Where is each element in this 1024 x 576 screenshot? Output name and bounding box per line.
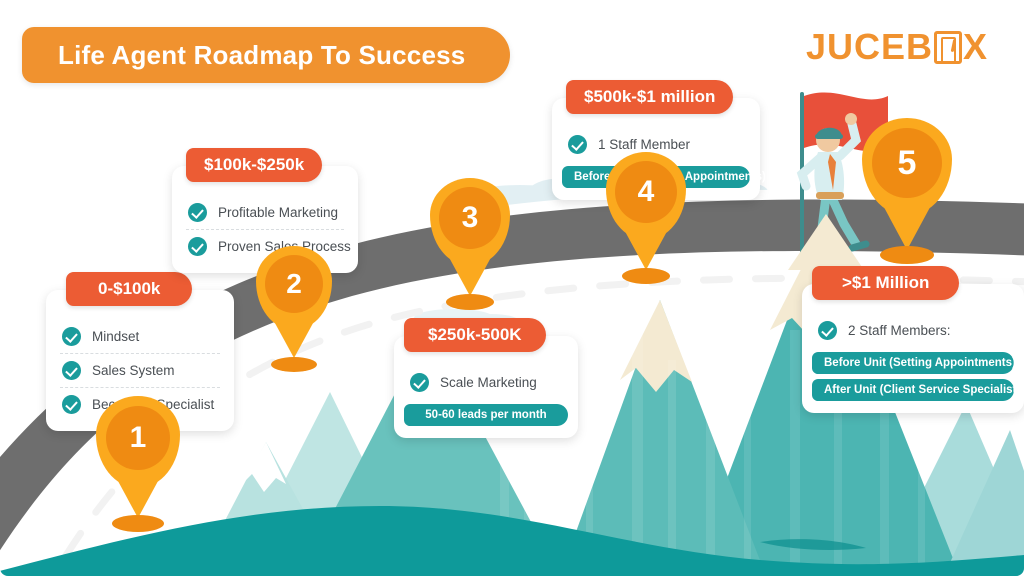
list-item: Mindset [60,320,220,353]
jucebox-logo[interactable]: JUCEB X [806,26,988,68]
pin-base-shadow [880,246,934,264]
list-item: 2 Staff Members: [816,314,1010,347]
map-pin-1[interactable]: 1 [96,396,180,532]
infographic-canvas: Life Agent Roadmap To Success JUCEB X 1 … [0,0,1024,576]
title-banner: Life Agent Roadmap To Success [22,27,510,83]
map-pin-3[interactable]: 3 [430,178,510,310]
pin-number-3: 3 [439,187,501,249]
check-icon [188,237,207,256]
map-pin-2[interactable]: 2 [256,246,332,372]
stage-card-5[interactable]: >$1 Million 2 Staff Members: Before Unit… [802,284,1024,413]
check-icon [62,327,81,346]
list-item: Profitable Marketing [186,196,344,229]
pin-tail-shape [621,224,671,270]
stage-5-pill-1: Before Unit (Setting Appointments) [812,352,1014,374]
stage-2-title: $100k-$250k [186,148,322,182]
map-pin-5[interactable]: 5 [862,118,952,264]
pin-tail-shape [270,314,318,358]
check-icon [188,203,207,222]
page-title: Life Agent Roadmap To Success [58,40,465,71]
check-icon [818,321,837,340]
pin-number-5: 5 [872,128,942,198]
pin-tail-shape [879,198,935,250]
stage-5-pill-2: After Unit (Client Service Specialist) [812,379,1014,401]
stage-5-body: 2 Staff Members: Before Unit (Setting Ap… [802,290,1024,413]
stage-3-pill-1: 50-60 leads per month [404,404,568,426]
check-icon [62,361,81,380]
stage-5-title: >$1 Million [812,266,959,300]
pin-base-shadow [271,357,317,372]
stage-3-title: $250k-500K [404,318,546,352]
pin-number-2: 2 [265,255,323,313]
logo-text-after: X [963,26,988,68]
pin-tail-shape [112,470,164,518]
pin-number-1: 1 [106,406,170,470]
pin-base-shadow [112,515,164,532]
check-icon [568,135,587,154]
map-pin-4[interactable]: 4 [606,152,686,284]
juice-box-icon [934,31,962,64]
stage-4-title: $500k-$1 million [566,80,733,114]
stage-3-body: Scale Marketing 50-60 leads per month [394,342,578,438]
pin-tail-shape [445,250,495,296]
stage-1-title: 0-$100k [66,272,192,306]
pin-base-shadow [622,268,670,284]
check-icon [62,395,81,414]
check-icon [410,373,429,392]
logo-text-before: JUCEB [806,26,933,68]
pin-number-4: 4 [615,161,677,223]
pin-base-shadow [446,294,494,310]
stage-card-3[interactable]: $250k-500K Scale Marketing 50-60 leads p… [394,336,578,438]
list-item: Scale Marketing [408,366,564,399]
list-item: Sales System [60,353,220,387]
